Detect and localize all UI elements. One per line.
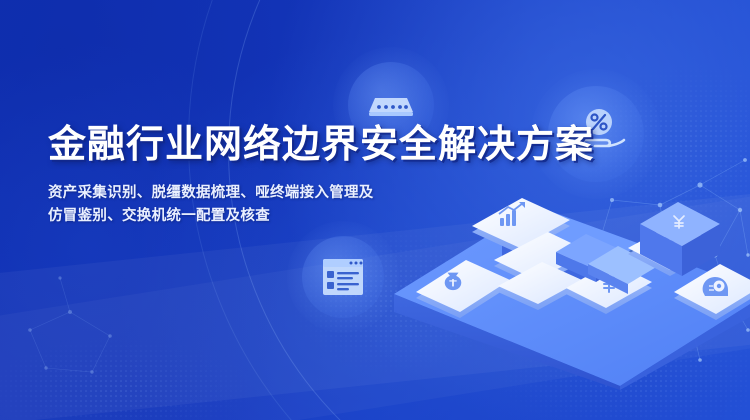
page-title: 金融行业网络边界安全解决方案: [48, 122, 594, 168]
subtitle-line-1: 资产采集识别、脱缰数据梳理、哑终端接入管理及: [48, 182, 594, 205]
banner-root: 金融行业网络边界安全解决方案 资产采集识别、脱缰数据梳理、哑终端接入管理及 仿冒…: [0, 0, 750, 420]
document-window-icon: [302, 236, 384, 318]
page-subtitle: 资产采集识别、脱缰数据梳理、哑终端接入管理及 仿冒鉴别、交换机统一配置及核查: [48, 182, 594, 228]
headline-block: 金融行业网络边界安全解决方案 资产采集识别、脱缰数据梳理、哑终端接入管理及 仿冒…: [48, 122, 594, 228]
subtitle-line-2: 仿冒鉴别、交换机统一配置及核查: [48, 205, 594, 228]
